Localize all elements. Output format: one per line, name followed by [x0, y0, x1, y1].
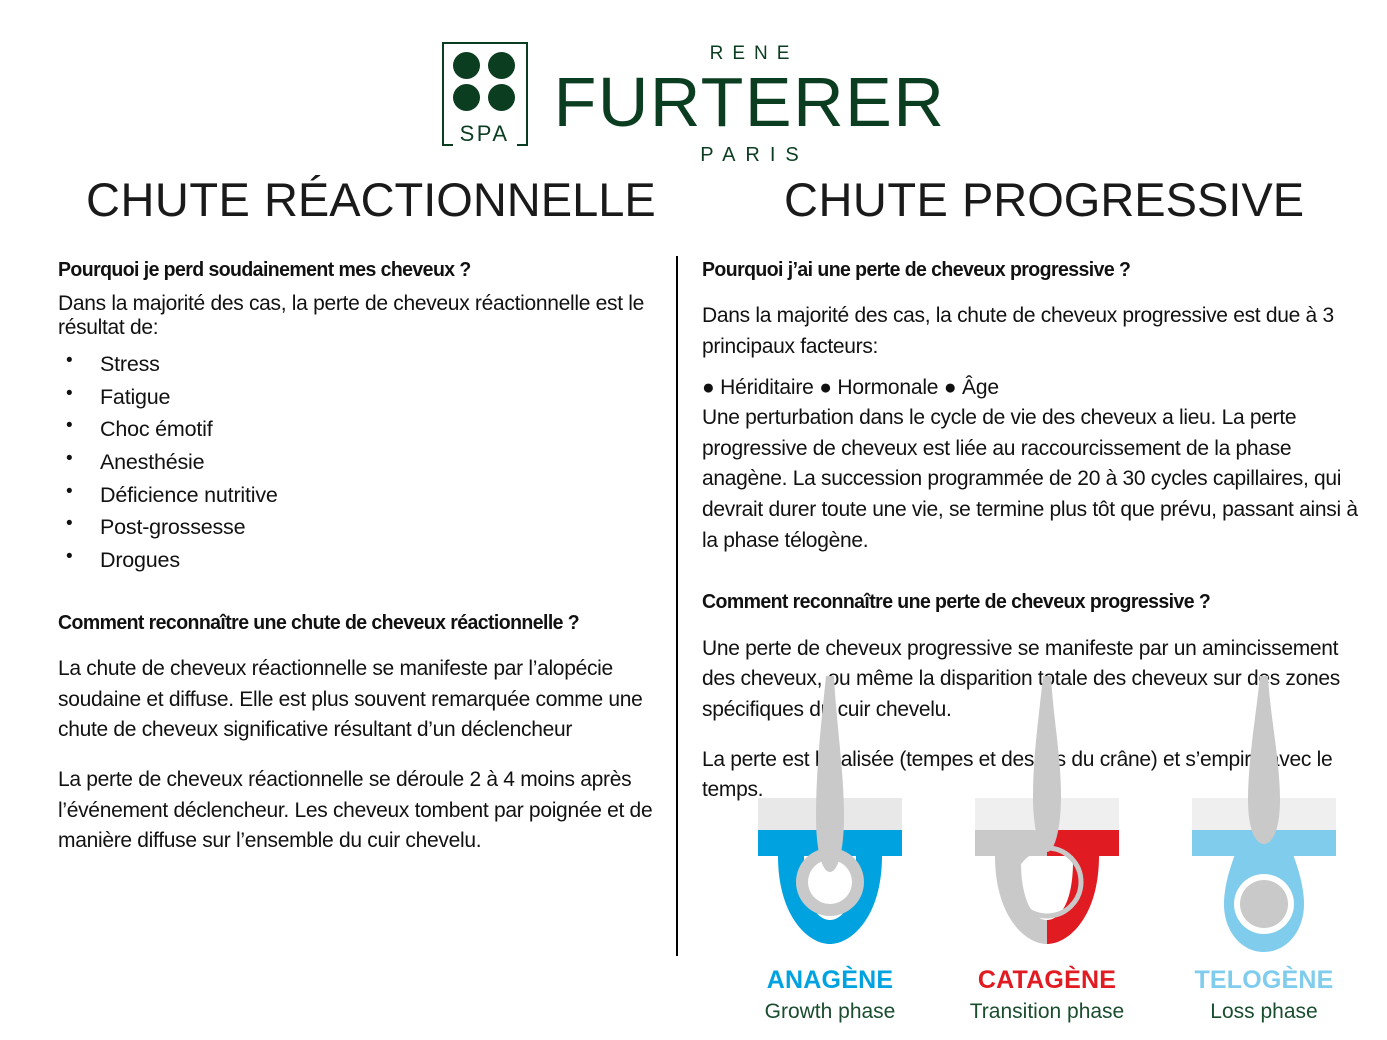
page-title-left: CHUTE RÉACTIONNELLE [86, 176, 656, 223]
brand-logo: SPA RENE FURTERER PARIS [0, 42, 1387, 165]
list-item: Anesthésie [58, 446, 658, 479]
title-left-bold: RÉACTIONNELLE [264, 173, 656, 226]
brand-rene: RENE [701, 44, 799, 63]
spa-mark-icon: SPA [442, 42, 528, 146]
left-q2-heading: Comment reconnaître une chute de cheveux… [58, 611, 628, 635]
right-q1-intro: Dans la majorité des cas, la chute de ch… [702, 301, 1374, 362]
right-q2-heading: Comment reconnaître une perte de cheveux… [702, 590, 1340, 614]
phase-catagene: CATAGÈNE Transition phase [947, 676, 1147, 1040]
left-q2-paragraph-2: La perte de cheveux réactionnelle se dér… [58, 765, 658, 857]
left-q1-heading: Pourquoi je perd soudainement mes cheveu… [58, 258, 628, 282]
telogene-follicle-icon [1164, 676, 1364, 966]
telogene-illustration [1164, 676, 1364, 966]
phase-catagene-label: CATAGÈNE [978, 968, 1116, 993]
left-column: Pourquoi je perd soudainement mes cheveu… [58, 258, 658, 857]
right-q1-paragraph-2: Une perturbation dans le cycle de vie de… [702, 403, 1374, 556]
hair-cycle-diagram: ANAGÈNE Growth phase CATAGÈNE [716, 676, 1376, 1040]
page-title-right: CHUTE PROGRESSIVE [784, 176, 1304, 223]
spa-dot [488, 52, 515, 79]
brand-name: FURTERER [554, 68, 946, 137]
list-item: Drogues [58, 544, 658, 577]
spa-dots-icon [453, 52, 517, 111]
phase-anagene: ANAGÈNE Growth phase [730, 676, 930, 1040]
spa-dot [453, 84, 480, 111]
left-q1-intro: Dans la majorité des cas, la perte de ch… [58, 292, 658, 340]
list-item: Stress [58, 348, 658, 381]
left-q2-paragraph-1: La chute de cheveux réactionnelle se man… [58, 654, 658, 746]
list-item: Choc émotif [58, 413, 658, 446]
title-right-thin: CHUTE [784, 173, 962, 226]
phase-telogene-label: TELOGÈNE [1194, 968, 1333, 993]
phase-telogene-subtitle: Loss phase [1210, 1000, 1317, 1023]
spa-dot [488, 84, 515, 111]
phase-anagene-subtitle: Growth phase [765, 1000, 896, 1023]
left-causes-list: Stress Fatigue Choc émotif Anesthésie Dé… [58, 348, 658, 577]
phase-catagene-subtitle: Transition phase [970, 1000, 1124, 1023]
poster-root: SPA RENE FURTERER PARIS CHUTE RÉACTIONNE… [0, 0, 1387, 1040]
anagene-illustration [730, 676, 930, 966]
right-factors-line: ● Hériditaire ● Hormonale ● Âge [702, 373, 1374, 404]
list-item: Fatigue [58, 381, 658, 414]
brand-wordmark: RENE FURTERER PARIS [554, 42, 946, 165]
spa-label: SPA [442, 123, 528, 145]
title-right-bold: PROGRESSIVE [962, 173, 1304, 226]
list-item: Post-grossesse [58, 511, 658, 544]
list-item: Déficience nutritive [58, 479, 658, 512]
title-left-thin: CHUTE [86, 173, 264, 226]
spa-dot [453, 52, 480, 79]
phase-telogene: TELOGÈNE Loss phase [1164, 676, 1364, 1040]
catagene-illustration [947, 676, 1147, 966]
phase-anagene-label: ANAGÈNE [767, 968, 893, 993]
brand-paris: PARIS [690, 145, 809, 165]
column-divider [676, 256, 678, 956]
catagene-follicle-icon [947, 676, 1147, 966]
right-q1-heading: Pourquoi j’ai une perte de cheveux progr… [702, 258, 1340, 282]
anagene-follicle-icon [730, 676, 930, 966]
